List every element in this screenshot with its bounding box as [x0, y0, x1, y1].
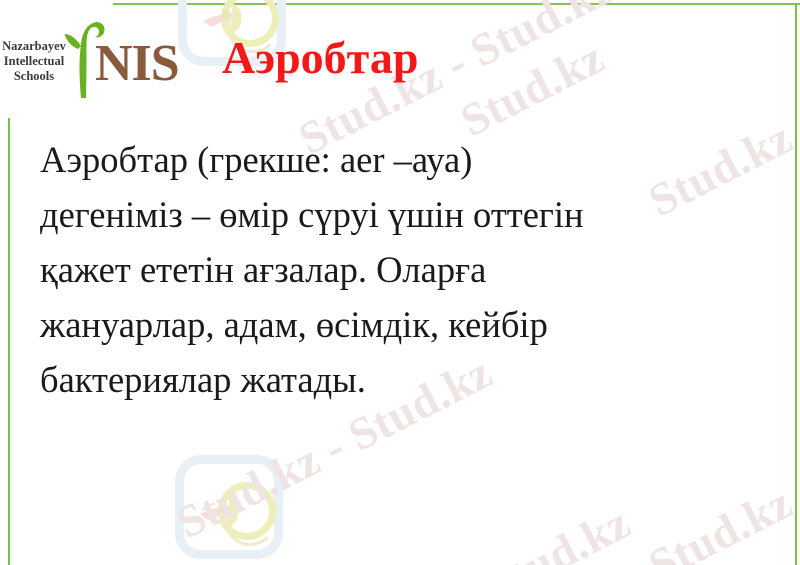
watermark-bird-icon: [198, 494, 264, 528]
body-line: бактериялар жатады.: [40, 352, 770, 407]
watermark-ring-inner-icon: [224, 494, 276, 546]
slide-header: Nazarbayev Intellectual Schools NIS Аэро…: [0, 0, 800, 118]
presentation-slide: Stud.kz - Stud.kz Stud.kz Stud.kz - Stud…: [0, 0, 800, 565]
body-line: жануарлар, адам, өсімдік, кейбір: [40, 297, 770, 352]
nis-logo-abbr: NIS: [95, 38, 179, 90]
watermark-ring-icon: [218, 482, 276, 540]
page-title: Аэробтар: [222, 33, 522, 83]
slide-body: Аэробтар (грекше: aer –ауа) дегеніміз – …: [40, 132, 770, 407]
body-line: қажет ететін ағзалар. Оларға: [40, 242, 770, 297]
nis-logo-line-2: Intellectual: [0, 54, 68, 69]
left-divider: [8, 118, 10, 565]
nis-logo: Nazarbayev Intellectual Schools NIS: [0, 14, 196, 110]
body-line: дегеніміз – өмір сүруі үшін оттегін: [40, 187, 770, 242]
watermark-text: Stud.kz: [640, 476, 800, 565]
nis-logo-line-1: Nazarbayev: [0, 39, 68, 54]
watermark-text: Stud.kz: [478, 496, 638, 565]
nis-logo-wordmark: Nazarbayev Intellectual Schools: [0, 39, 68, 84]
watermark-bird-logo: [175, 455, 283, 559]
body-line: Аэробтар (грекше: aer –ауа): [40, 132, 770, 187]
nis-logo-line-3: Schools: [0, 69, 68, 84]
